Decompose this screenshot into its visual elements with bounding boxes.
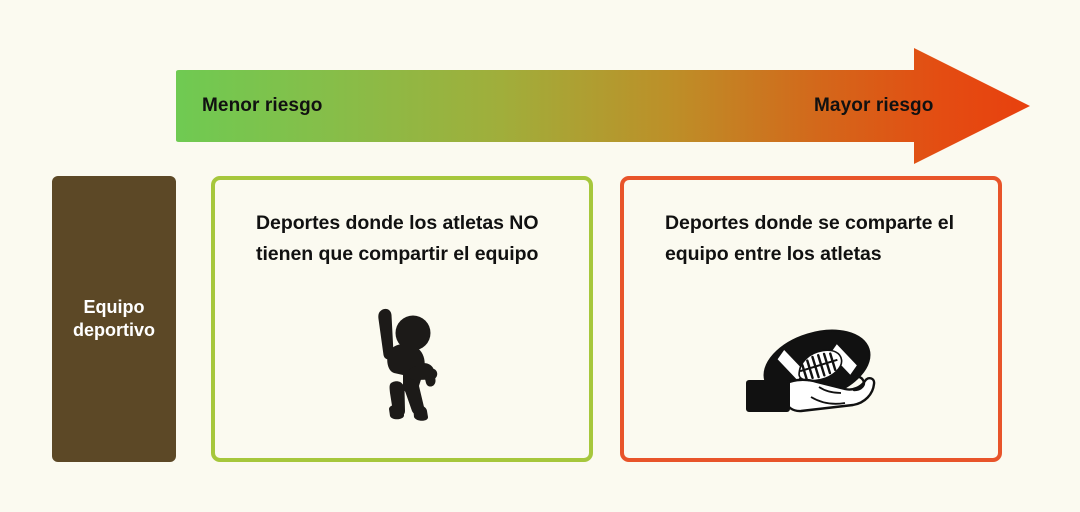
stretching-athlete-icon: [356, 305, 448, 423]
low-risk-label: Menor riesgo: [202, 96, 323, 115]
infographic-canvas: Menor riesgo Mayor riesgo Equipo deporti…: [0, 0, 1080, 512]
category-block-sports-equipment: Equipo deportivo: [52, 176, 176, 462]
card-high-risk-text: Deportes donde se comparte el equipo ent…: [665, 208, 976, 270]
panel-row: Equipo deportivo Deportes donde los atle…: [0, 176, 1080, 462]
risk-gradient-arrow: Menor riesgo Mayor riesgo: [172, 40, 1030, 172]
card-high-risk-figure: [624, 320, 998, 425]
high-risk-label: Mayor riesgo: [814, 96, 933, 115]
card-high-risk: Deportes donde se comparte el equipo ent…: [620, 176, 1002, 462]
card-low-risk-text: Deportes donde los atletas NO tienen que…: [256, 208, 567, 270]
card-low-risk: Deportes donde los atletas NO tienen que…: [211, 176, 593, 462]
hand-holding-football-icon: [741, 325, 881, 421]
category-label: Equipo deportivo: [52, 296, 176, 342]
card-low-risk-figure: [215, 304, 589, 424]
